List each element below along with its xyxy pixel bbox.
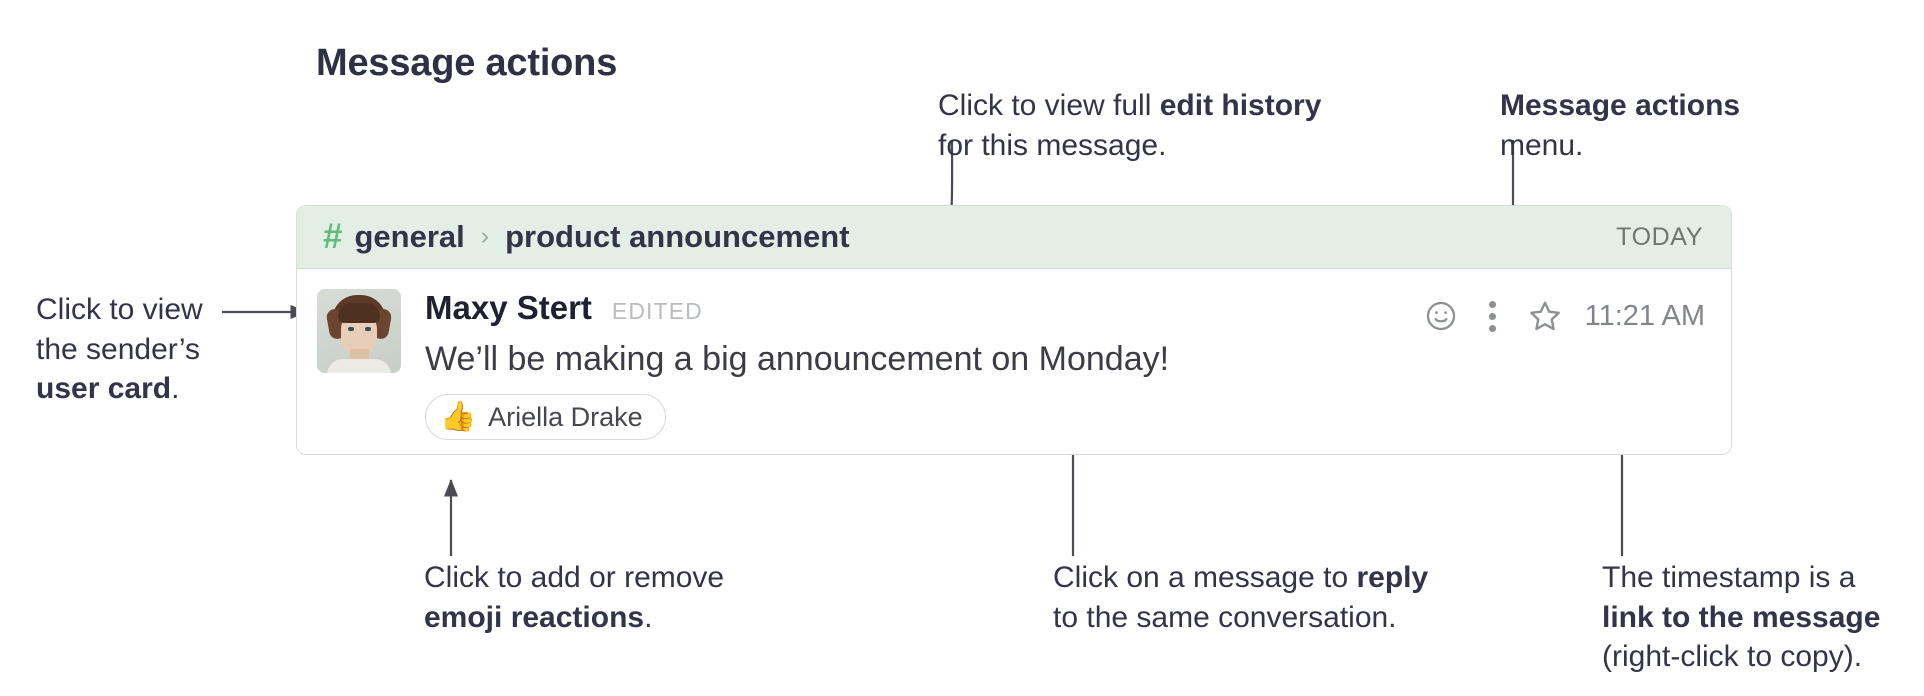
annotation-reply-line1-plain: Click on a message to — [1053, 561, 1356, 594]
channel-name-link[interactable]: general — [354, 219, 464, 255]
annotation-edit-history-line1-bold: edit history — [1160, 89, 1322, 122]
topic-name-link[interactable]: product announcement — [505, 219, 849, 255]
annotation-reply: Click on a message to reply to the same … — [1053, 558, 1453, 637]
annotation-user-card-line2: the sender’s — [36, 333, 200, 366]
message-actions-menu-icon[interactable] — [1467, 293, 1519, 339]
message-row[interactable]: Maxy Stert EDITED We’ll be making a big … — [297, 269, 1731, 440]
message-actions-toolbar: 11:21 AM — [1415, 293, 1705, 339]
emoji-reaction-icon[interactable] — [1415, 293, 1467, 339]
annotation-emoji-reactions: Click to add or remove emoji reactions. — [424, 558, 754, 637]
chevron-right-icon: › — [481, 222, 489, 251]
reaction-pill[interactable]: 👍 Ariella Drake — [425, 394, 666, 440]
timestamp-link[interactable]: 11:21 AM — [1585, 300, 1705, 333]
message-text[interactable]: We’ll be making a big announcement on Mo… — [425, 339, 1705, 380]
annotation-edit-history-line1-plain: Click to view full — [938, 89, 1160, 122]
annotation-timestamp-line1: The timestamp is a — [1602, 561, 1855, 594]
annotation-user-card: Click to view the sender’s user card. — [36, 290, 266, 409]
annotation-timestamp-line3: (right-click to copy). — [1602, 640, 1862, 673]
reaction-label: Ariella Drake — [488, 402, 643, 433]
annotation-user-card-line3-bold: user card — [36, 372, 171, 405]
date-label: TODAY — [1616, 223, 1703, 252]
annotation-user-card-line3-plain: . — [171, 372, 179, 405]
annotation-user-card-line1: Click to view — [36, 293, 203, 326]
channel-header: # general › product announcement TODAY — [297, 206, 1731, 269]
avatar[interactable] — [317, 289, 401, 373]
reaction-row: 👍 Ariella Drake — [425, 394, 1705, 440]
page-title: Message actions — [316, 42, 617, 85]
annotation-actions-menu: Message actions menu. — [1500, 86, 1800, 165]
edited-badge[interactable]: EDITED — [612, 298, 703, 325]
annotation-reply-line1-bold: reply — [1356, 561, 1428, 594]
sender-name[interactable]: Maxy Stert — [425, 289, 592, 327]
thumbs-up-icon: 👍 — [440, 403, 476, 432]
annotation-timestamp-line2-bold: link to the message — [1602, 601, 1880, 634]
annotation-reply-line2: to the same conversation. — [1053, 601, 1397, 634]
annotation-emoji-reactions-line2-bold: emoji reactions — [424, 601, 644, 634]
annotation-timestamp: The timestamp is a link to the message (… — [1602, 558, 1902, 677]
hash-icon: # — [323, 219, 342, 254]
annotation-actions-menu-line1: Message actions — [1500, 89, 1740, 122]
message-card: # general › product announcement TODAY M… — [296, 205, 1732, 455]
annotation-emoji-reactions-line2-plain: . — [644, 601, 652, 634]
annotation-emoji-reactions-line1: Click to add or remove — [424, 561, 724, 594]
annotation-edit-history-line2: for this message. — [938, 129, 1166, 162]
annotation-actions-menu-line2: menu. — [1500, 129, 1583, 162]
annotation-edit-history: Click to view full edit history for this… — [938, 86, 1358, 165]
star-icon[interactable] — [1519, 293, 1571, 339]
